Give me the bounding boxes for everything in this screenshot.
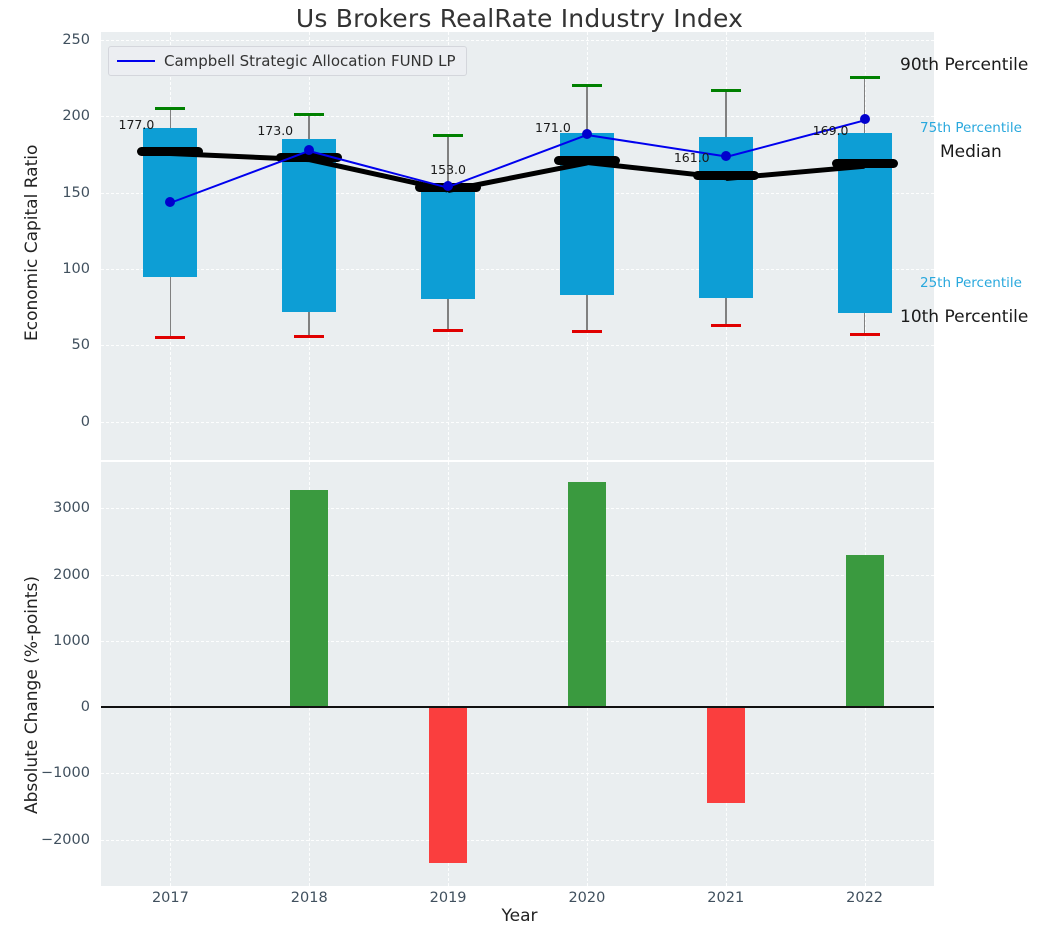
gridline xyxy=(101,641,934,642)
top-y-axis-title: Economic Capital Ratio xyxy=(22,145,42,341)
median-marker xyxy=(137,147,203,156)
x-axis-tick: 2019 xyxy=(430,890,467,906)
change-bar[interactable] xyxy=(290,490,328,707)
gridline xyxy=(726,462,727,886)
y-axis-tick: 0 xyxy=(0,414,90,430)
gridline xyxy=(101,40,934,41)
legend-line-icon xyxy=(117,60,155,62)
x-axis-title: Year xyxy=(0,906,1039,926)
annotation-p10: 10th Percentile xyxy=(900,307,1028,327)
change-bar[interactable] xyxy=(568,482,606,707)
x-axis-tick: 2018 xyxy=(291,890,328,906)
fund-series-point[interactable] xyxy=(304,145,314,155)
boxplot-panel xyxy=(101,32,934,460)
p90-cap xyxy=(433,134,463,137)
y-axis-tick: 2000 xyxy=(0,567,90,583)
gridline xyxy=(101,575,934,576)
x-axis-tick: 2020 xyxy=(568,890,605,906)
y-axis-tick: 250 xyxy=(0,32,90,48)
x-axis-tick: 2021 xyxy=(707,890,744,906)
annotation-p90: 90th Percentile xyxy=(900,55,1028,75)
p90-cap xyxy=(155,107,185,110)
median-value-label: 171.0 xyxy=(535,120,571,135)
median-marker xyxy=(554,156,620,165)
median-value-label: 173.0 xyxy=(257,123,293,138)
p10-cap xyxy=(572,330,602,333)
gridline xyxy=(101,116,934,117)
gridline xyxy=(101,773,934,774)
y-axis-tick: 100 xyxy=(0,261,90,277)
y-axis-tick: 50 xyxy=(0,337,90,353)
chart-root: Us Brokers RealRate Industry Index Econo… xyxy=(0,0,1039,942)
median-value-label: 169.0 xyxy=(813,123,849,138)
p10-cap xyxy=(155,336,185,339)
p90-cap xyxy=(850,76,880,79)
gridline xyxy=(101,840,934,841)
zero-baseline xyxy=(101,706,934,708)
p90-cap xyxy=(294,113,324,116)
box-iqr xyxy=(421,185,475,300)
annotation-p75: 75th Percentile xyxy=(920,120,1022,136)
legend-label: Campbell Strategic Allocation FUND LP xyxy=(164,52,456,70)
fund-series-point[interactable] xyxy=(860,114,870,124)
y-axis-tick: 3000 xyxy=(0,500,90,516)
gridline xyxy=(101,422,934,423)
median-marker xyxy=(832,159,898,168)
y-axis-tick: 1000 xyxy=(0,633,90,649)
change-bar[interactable] xyxy=(707,707,745,802)
p10-cap xyxy=(294,335,324,338)
legend[interactable]: Campbell Strategic Allocation FUND LP xyxy=(108,46,467,76)
x-axis-tick: 2017 xyxy=(152,890,189,906)
p10-cap xyxy=(711,324,741,327)
x-axis-tick: 2022 xyxy=(846,890,883,906)
page-title: Us Brokers RealRate Industry Index xyxy=(0,4,1039,33)
y-axis-tick: 200 xyxy=(0,108,90,124)
y-axis-tick: −1000 xyxy=(0,765,90,781)
median-marker xyxy=(693,171,759,180)
gridline xyxy=(101,269,934,270)
gridline xyxy=(101,345,934,346)
barchart-panel xyxy=(101,462,934,886)
p90-cap xyxy=(572,84,602,87)
gridline xyxy=(170,462,171,886)
annotation-p25: 25th Percentile xyxy=(920,275,1022,291)
median-value-label: 161.0 xyxy=(674,150,710,165)
y-axis-tick: 0 xyxy=(0,699,90,715)
gridline xyxy=(101,193,934,194)
change-bar[interactable] xyxy=(846,555,884,707)
y-axis-tick: 150 xyxy=(0,185,90,201)
change-bar[interactable] xyxy=(429,707,467,863)
gridline xyxy=(101,508,934,509)
y-axis-tick: −2000 xyxy=(0,832,90,848)
p90-cap xyxy=(711,89,741,92)
median-value-label: 177.0 xyxy=(119,117,155,132)
annotation-median: Median xyxy=(940,142,1002,162)
p10-cap xyxy=(433,329,463,332)
fund-series-point[interactable] xyxy=(721,151,731,161)
median-value-label: 153.0 xyxy=(430,162,466,177)
p10-cap xyxy=(850,333,880,336)
